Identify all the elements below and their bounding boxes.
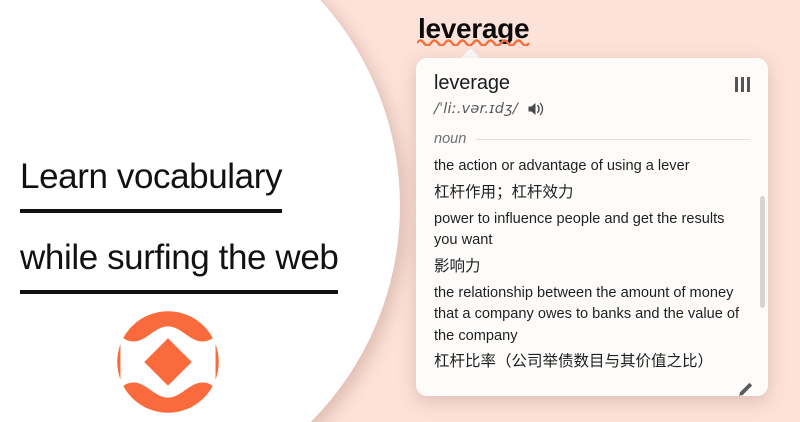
menu-icon-bar [741,77,744,92]
promo-screenshot: Learn vocabulary while surfing the web l… [0,0,800,422]
definition-en: power to influence people and get the re… [434,209,742,252]
definition-zh: 杠杆作用；杠杆效力 [434,180,742,205]
menu-icon[interactable] [735,77,750,92]
part-of-speech: noun [434,131,466,147]
pronunciation-row: /ˈliː.vər.ɪdʒ/ [416,95,768,117]
page-title: Learn vocabulary while surfing the web [20,146,400,308]
definition-en: the relationship between the amount of m… [434,283,742,348]
menu-icon-bar [747,77,750,92]
popup-headword: leverage [434,72,750,95]
definition-list: the action or advantage of using a lever… [416,147,768,374]
promo-content: Learn vocabulary while surfing the web [0,0,400,422]
popup-scrollbar[interactable] [760,196,765,308]
tagline-line-2: while surfing the web [20,227,338,294]
app-logo [114,308,222,416]
edit-icon[interactable] [737,381,754,396]
speaker-icon[interactable] [527,101,546,117]
divider [476,139,750,140]
definition-en: the action or advantage of using a lever [434,156,742,178]
popup-header: leverage [416,58,768,95]
definition-zh: 杠杆比率（公司举债数目与其价值之比） [434,349,742,374]
tagline-line-1: Learn vocabulary [20,146,282,213]
part-of-speech-row: noun [416,117,768,147]
menu-icon-bar [735,77,738,92]
dictionary-popup[interactable]: leverage /ˈliː.vər.ɪdʒ/ noun the action … [416,58,768,396]
squiggly-underline-icon [417,37,531,46]
phonetic-transcription: /ˈliː.vər.ɪdʒ/ [434,101,518,117]
definition-zh: 影响力 [434,254,742,279]
